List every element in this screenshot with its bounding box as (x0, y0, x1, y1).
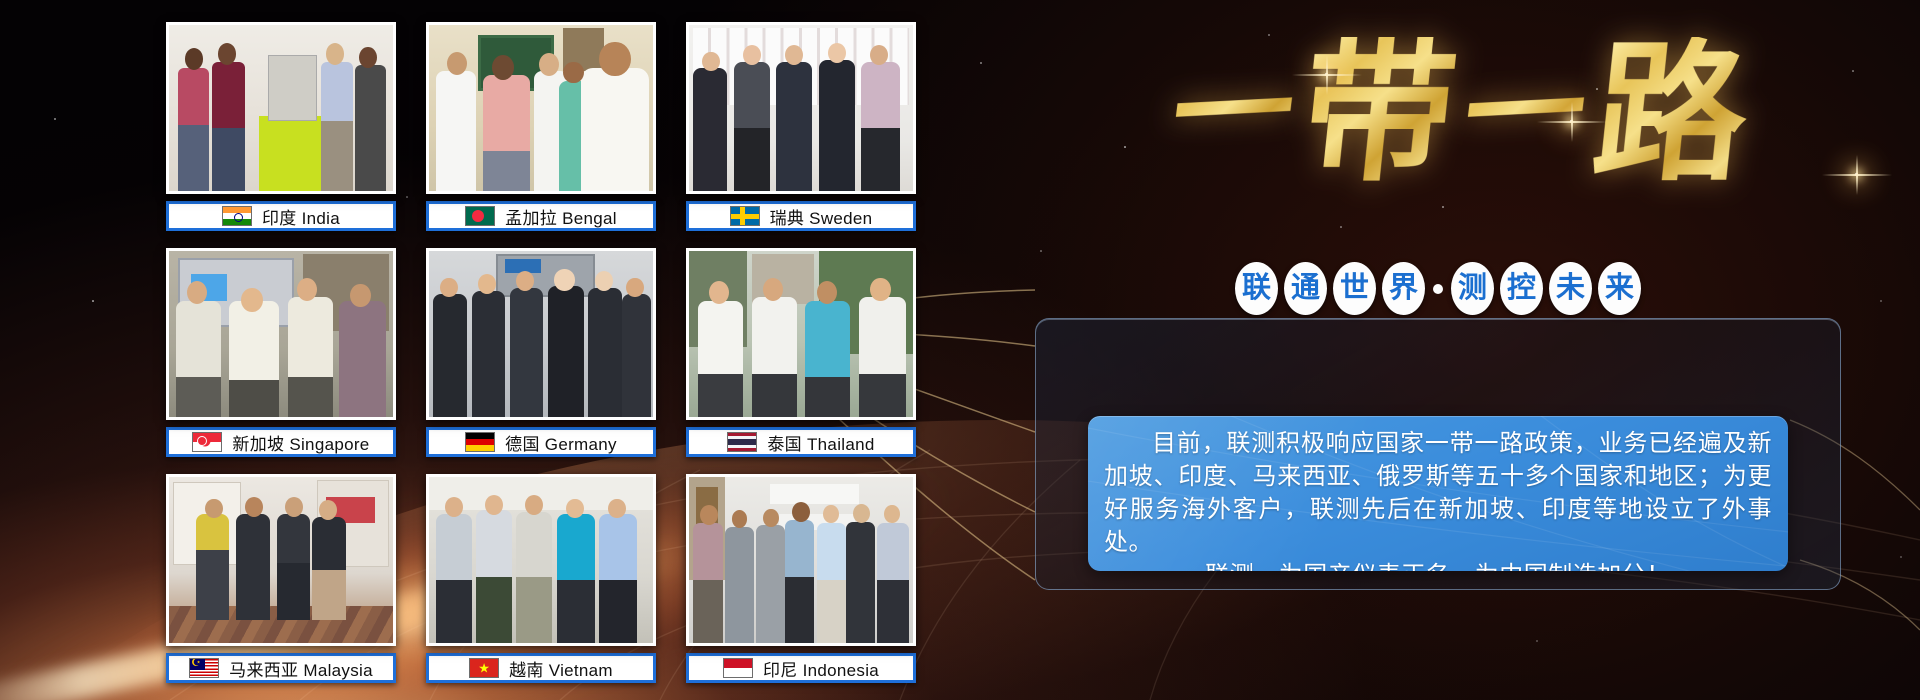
vietnam-flag (469, 658, 499, 678)
slogan-bead: 控 (1500, 262, 1543, 315)
slogan-bead: 测 (1451, 262, 1494, 315)
slogan-bead: 界 (1382, 262, 1425, 315)
slogan-bead: 来 (1598, 262, 1641, 315)
slogan-bead: 通 (1284, 262, 1327, 315)
slogan-char: 联 (1242, 274, 1271, 303)
malaysia-flag (189, 658, 219, 678)
slogan-char: 世 (1340, 274, 1369, 303)
country-label-singapore[interactable]: 新加坡 Singapore (166, 427, 396, 457)
gallery-item-sweden[interactable]: 瑞典 Sweden (686, 22, 916, 231)
slogan-char: 测 (1458, 274, 1487, 303)
gallery-item-thailand[interactable]: 泰国 Thailand (686, 248, 916, 457)
calligraphy-char-4: 路 (1587, 37, 1755, 189)
sparkle-glint (1570, 120, 1573, 123)
sparkle-glint (1855, 173, 1858, 176)
sparkle-glint (1325, 73, 1328, 76)
country-label-vietnam[interactable]: 越南 Vietnam (426, 653, 656, 683)
country-label-malaysia[interactable]: 马来西亚 Malaysia (166, 653, 396, 683)
country-photo-gallery: 印度 India (166, 22, 916, 682)
slogan-char: 界 (1389, 274, 1418, 303)
calligraphy-char-2: 带 (1295, 37, 1463, 189)
country-label-text: 新加坡 Singapore (232, 430, 369, 455)
slogan-char: 未 (1556, 274, 1585, 303)
country-label-text: 泰国 Thailand (767, 430, 874, 455)
thailand-flag (727, 432, 757, 452)
photo-thailand (686, 248, 916, 420)
country-label-thailand[interactable]: 泰国 Thailand (686, 427, 916, 457)
country-label-bengal[interactable]: 孟加拉 Bengal (426, 201, 656, 231)
slogan-bead: 未 (1549, 262, 1592, 315)
slogan-char: 控 (1507, 274, 1536, 303)
calligraphy-char-3: 一 (1457, 50, 1593, 176)
gallery-item-vietnam[interactable]: 越南 Vietnam (426, 474, 656, 683)
slogan-headline: 联 通 世 界 测 控 未 来 (1035, 262, 1841, 315)
slogan-bead: 世 (1333, 262, 1376, 315)
country-label-germany[interactable]: 德国 Germany (426, 427, 656, 457)
photo-bengal (426, 22, 656, 194)
country-label-text: 马来西亚 Malaysia (229, 656, 373, 681)
country-label-indonesia[interactable]: 印尼 Indonesia (686, 653, 916, 683)
description-tagline: 联测，为国产仪表正名，为中国制造加分！ (1104, 559, 1772, 571)
bengal-flag (465, 206, 495, 226)
country-label-text: 孟加拉 Bengal (505, 204, 617, 229)
photo-singapore (166, 248, 396, 420)
india-flag (222, 206, 252, 226)
banner-stage: 印度 India (0, 0, 1920, 700)
photo-indonesia (686, 474, 916, 646)
indonesia-flag (723, 658, 753, 678)
calligraphy-char-1: 一 (1165, 50, 1301, 176)
country-label-text: 印尼 Indonesia (763, 656, 879, 681)
photo-india (166, 22, 396, 194)
country-label-india[interactable]: 印度 India (166, 201, 396, 231)
slogan-char: 通 (1291, 274, 1320, 303)
country-label-sweden[interactable]: 瑞典 Sweden (686, 201, 916, 231)
gallery-item-bengal[interactable]: 孟加拉 Bengal (426, 22, 656, 231)
photo-malaysia (166, 474, 396, 646)
photo-sweden (686, 22, 916, 194)
photo-germany (426, 248, 656, 420)
gallery-item-malaysia[interactable]: 马来西亚 Malaysia (166, 474, 396, 683)
country-label-text: 越南 Vietnam (509, 656, 613, 681)
country-label-text: 印度 India (262, 204, 340, 229)
description-paragraph: 目前，联测积极响应国家一带一路政策，业务已经遍及新加坡、印度、马来西亚、俄罗斯等… (1104, 427, 1772, 559)
slogan-separator-dot (1433, 284, 1443, 294)
singapore-flag (192, 432, 222, 452)
country-label-text: 瑞典 Sweden (770, 204, 873, 229)
photo-vietnam (426, 474, 656, 646)
slogan-bead: 联 (1235, 262, 1278, 315)
description-box: 目前，联测积极响应国家一带一路政策，业务已经遍及新加坡、印度、马来西亚、俄罗斯等… (1088, 416, 1788, 571)
country-label-text: 德国 Germany (505, 430, 617, 455)
gallery-item-singapore[interactable]: 新加坡 Singapore (166, 248, 396, 457)
gallery-item-indonesia[interactable]: 印尼 Indonesia (686, 474, 916, 683)
belt-and-road-calligraphy: 一 带 一 路 (1010, 8, 1910, 218)
gallery-item-germany[interactable]: 德国 Germany (426, 248, 656, 457)
sweden-flag (730, 206, 760, 226)
germany-flag (465, 432, 495, 452)
gallery-item-india[interactable]: 印度 India (166, 22, 396, 231)
slogan-char: 来 (1605, 274, 1634, 303)
